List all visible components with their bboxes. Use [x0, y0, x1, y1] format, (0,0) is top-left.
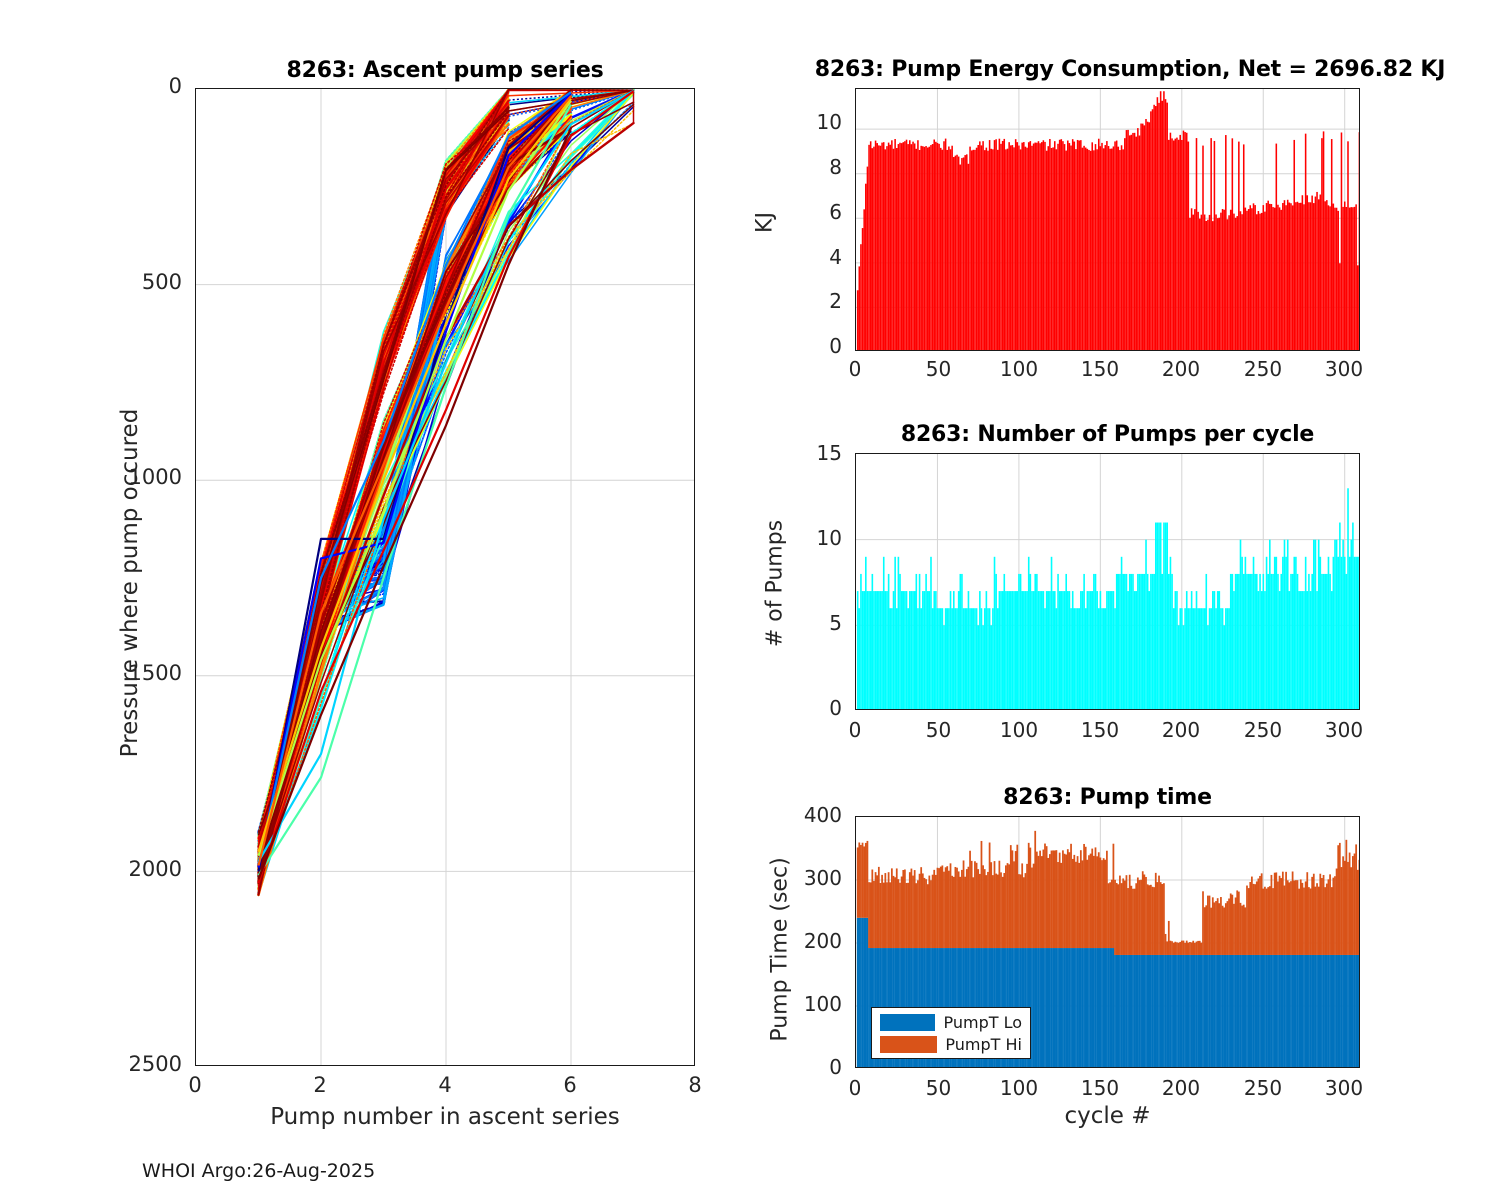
energy-yaxis-label: KJ [753, 123, 778, 323]
pumptime-xtick-100: 100 [997, 1076, 1041, 1100]
ascent-plot-area[interactable] [195, 88, 695, 1066]
energy-ytick-8: 8 [790, 155, 842, 179]
ascent-xtick-2: 2 [305, 1073, 335, 1097]
energy-ytick-4: 4 [790, 245, 842, 269]
pumptime-xtick-300: 300 [1322, 1076, 1366, 1100]
numpumps-xtick-250: 250 [1241, 718, 1285, 742]
legend-item-pumpt-lo[interactable]: PumpT Lo [880, 1013, 1022, 1032]
numpumps-xtick-200: 200 [1159, 718, 1203, 742]
energy-ytick-6: 6 [790, 200, 842, 224]
energy-plot-area[interactable] [855, 88, 1360, 351]
numpumps-xtick-100: 100 [997, 718, 1041, 742]
energy-xtick-200: 200 [1159, 357, 1203, 381]
energy-ytick-2: 2 [790, 289, 842, 313]
numpumps-ytick-0: 0 [790, 696, 842, 720]
footer-credit: WHOI Argo:26-Aug-2025 [142, 1160, 375, 1182]
numpumps-plot-area[interactable] [855, 453, 1360, 710]
pumptime-xtick-0: 0 [840, 1076, 870, 1100]
legend-label-pumpt-hi: PumpT Hi [945, 1035, 1022, 1054]
legend-item-pumpt-hi[interactable]: PumpT Hi [880, 1035, 1022, 1054]
numpumps-ytick-15: 15 [790, 441, 842, 465]
legend-swatch-pumpt-hi [880, 1036, 937, 1053]
ascent-ytick-0: 0 [120, 74, 182, 98]
pumptime-panel-title: 8263: Pump time [855, 785, 1360, 810]
pumptime-xaxis-label: cycle # [855, 1103, 1360, 1129]
numpumps-xtick-0: 0 [840, 718, 870, 742]
numpumps-yaxis-label: # of Pumps [763, 454, 788, 714]
energy-xtick-150: 150 [1078, 357, 1122, 381]
pumptime-xtick-50: 50 [921, 1076, 956, 1100]
pumptime-xtick-200: 200 [1159, 1076, 1203, 1100]
energy-xtick-300: 300 [1322, 357, 1366, 381]
numpumps-panel-title: 8263: Number of Pumps per cycle [855, 422, 1360, 447]
ascent-xtick-4: 4 [430, 1073, 460, 1097]
pumptime-yaxis-label: Pump Time (sec) [768, 790, 793, 1110]
numpumps-xtick-50: 50 [921, 718, 956, 742]
legend-swatch-pumpt-lo [880, 1014, 935, 1031]
ascent-ytick-2500: 2500 [110, 1052, 182, 1076]
ascent-xtick-0: 0 [180, 1073, 210, 1097]
ascent-series-lines [196, 89, 695, 1066]
numpumps-xtick-150: 150 [1078, 718, 1122, 742]
energy-xtick-100: 100 [997, 357, 1041, 381]
ascent-xtick-6: 6 [555, 1073, 585, 1097]
energy-xtick-50: 50 [921, 357, 956, 381]
energy-xtick-250: 250 [1241, 357, 1285, 381]
numpumps-xtick-300: 300 [1322, 718, 1366, 742]
ascent-xaxis-label: Pump number in ascent series [195, 1104, 695, 1130]
ascent-xtick-8: 8 [680, 1073, 710, 1097]
pumptime-legend[interactable]: PumpT Lo PumpT Hi [871, 1007, 1031, 1059]
ascent-panel-title: 8263: Ascent pump series [195, 58, 695, 83]
ascent-ytick-2000: 2000 [110, 857, 182, 881]
energy-ytick-0: 0 [790, 334, 842, 358]
ascent-yaxis-label: Pressure where pump occured [117, 333, 143, 833]
numpumps-ytick-10: 10 [790, 526, 842, 550]
energy-bars [856, 89, 1360, 351]
energy-panel-title: 8263: Pump Energy Consumption, Net = 269… [760, 57, 1500, 82]
energy-xtick-0: 0 [840, 357, 870, 381]
energy-ytick-10: 10 [790, 110, 842, 134]
numpumps-bars [856, 454, 1360, 710]
pumptime-xtick-250: 250 [1241, 1076, 1285, 1100]
legend-label-pumpt-lo: PumpT Lo [943, 1013, 1022, 1032]
pumptime-xtick-150: 150 [1078, 1076, 1122, 1100]
ascent-ytick-500: 500 [120, 270, 182, 294]
numpumps-ytick-5: 5 [790, 611, 842, 635]
